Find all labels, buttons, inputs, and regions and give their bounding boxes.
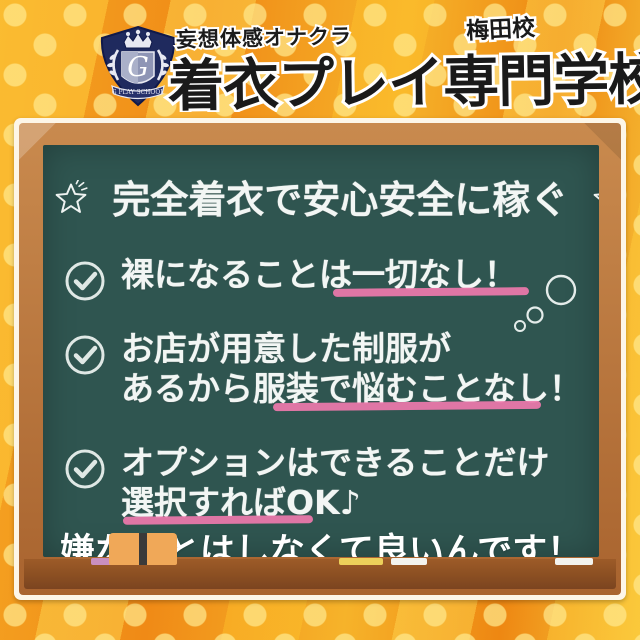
- chalk-stick-white: [391, 558, 427, 565]
- header-main-title: 着衣プレイ専門学校: [167, 35, 640, 112]
- star-left-icon: [53, 180, 89, 225]
- svg-text:G: G: [127, 52, 149, 83]
- poster-root: G G PLAY SCHOOL 妄想体感オナクラ 梅田校: [0, 0, 640, 640]
- check-circle-icon: [63, 447, 107, 491]
- check-circle-icon: [63, 333, 107, 377]
- bullet-2-lines: お店が用意した制服が あるから服装で悩むことなし！: [121, 329, 599, 409]
- bubble-decoration: [511, 273, 585, 335]
- chalk-stick-white: [555, 558, 593, 565]
- check-circle-icon: [63, 259, 107, 303]
- blackboard-content: 完全着衣で安心安全に稼ぐ: [43, 145, 599, 557]
- bullet-3-lines: オプションはできることだけ 選択すればOK♪: [121, 443, 599, 523]
- blackboard: 完全着衣で安心安全に稼ぐ: [14, 118, 626, 600]
- board-eraser-icon: [109, 533, 177, 565]
- bullet-2-line-1-text: お店が用意した制服が: [121, 329, 451, 368]
- bullet-3-line-2: 選択すればOK♪: [121, 483, 599, 523]
- bullet-3-line-1-text: オプションはできることだけ: [121, 443, 549, 482]
- header-band: G G PLAY SCHOOL 妄想体感オナクラ 梅田校: [0, 0, 640, 112]
- blackboard-surface: 完全着衣で安心安全に稼ぐ: [43, 145, 599, 557]
- board-heading: 完全着衣で安心安全に稼ぐ: [43, 169, 599, 225]
- blackboard-frame: 完全着衣で安心安全に稼ぐ: [19, 123, 621, 595]
- pink-underline: [333, 287, 529, 297]
- bullet-3-line-1: オプションはできることだけ: [121, 443, 599, 483]
- bullet-2-line-1: お店が用意した制服が: [121, 329, 599, 369]
- pink-underline: [273, 401, 541, 411]
- crest-motto: G PLAY SCHOOL: [112, 89, 164, 96]
- star-right-icon: [591, 180, 599, 225]
- bullet-2-line-2: あるから服装で悩むことなし！: [121, 369, 599, 409]
- board-heading-text: 完全着衣で安心安全に稼ぐ: [112, 178, 568, 222]
- chalk-stick-yellow: [339, 558, 383, 565]
- header-text-group: 妄想体感オナクラ 梅田校 着衣プレイ専門学校: [168, 14, 638, 112]
